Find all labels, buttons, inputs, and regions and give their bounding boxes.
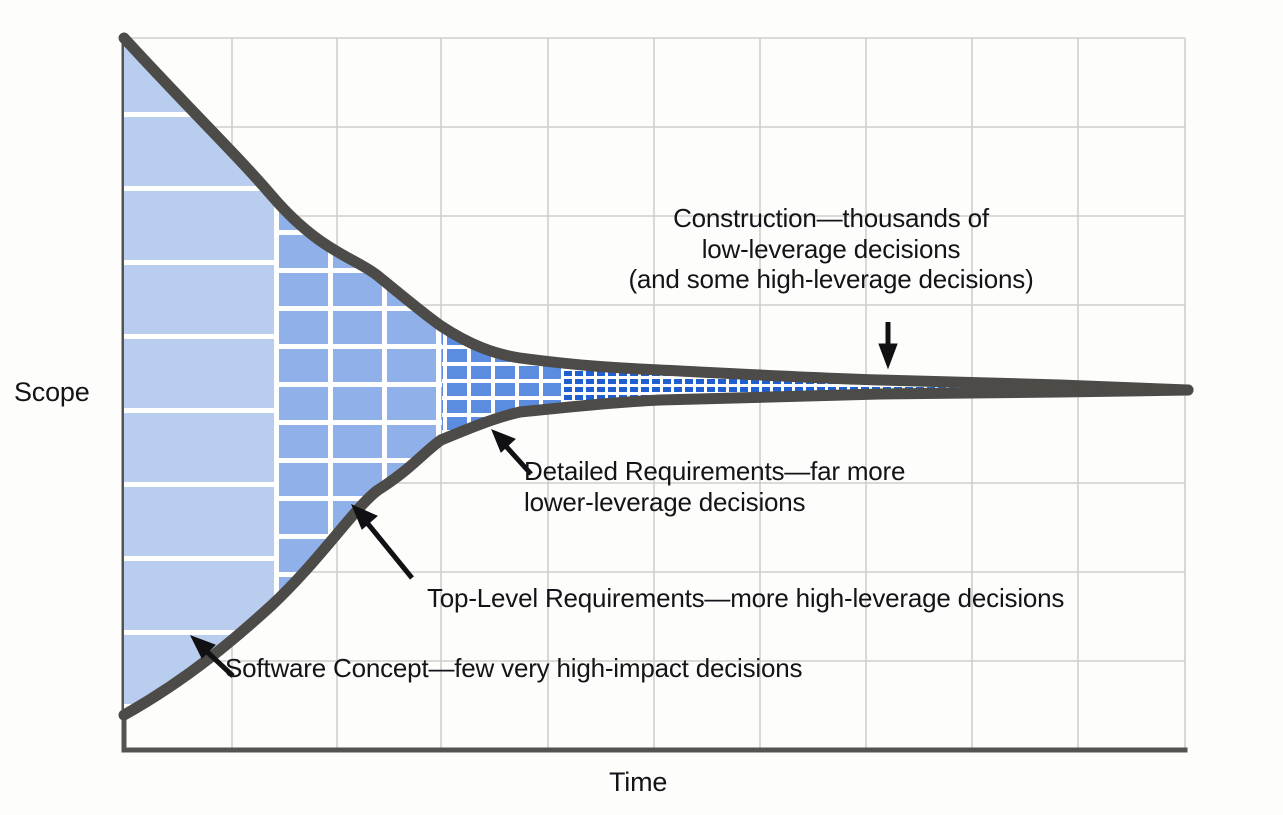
zone-top-level-requirements (274, 30, 442, 750)
callout-concept-line-1: Software Concept—few very high-impact de… (225, 653, 802, 684)
y-axis-label: Scope (14, 377, 90, 408)
callout-top-level-requirements: Top-Level Requirements—more high-leverag… (427, 583, 1064, 614)
figure-canvas: Scope Time Construction—thousands of low… (0, 0, 1283, 815)
callout-detailed-requirements: Detailed Requirements—far more lower-lev… (524, 456, 1024, 517)
callout-construction-line-2: low-leverage decisions (596, 234, 1066, 265)
callout-construction-line-3: (and some high-leverage decisions) (596, 264, 1066, 295)
callout-construction: Construction—thousands of low-leverage d… (596, 203, 1066, 295)
callout-detailed-line-1: Detailed Requirements—far more (524, 456, 1024, 487)
top-level-requirements-arrow-icon (352, 505, 412, 578)
callout-detailed-line-2: lower-leverage decisions (524, 487, 1024, 518)
callout-construction-line-1: Construction—thousands of (596, 203, 1066, 234)
construction-arrow-icon (879, 322, 897, 368)
zone-detailed-requirements (442, 300, 561, 480)
callout-software-concept: Software Concept—few very high-impact de… (225, 653, 802, 684)
x-axis-label: Time (609, 767, 667, 798)
funnel-diagram-svg (0, 0, 1283, 815)
callout-toplevel-line-1: Top-Level Requirements—more high-leverag… (427, 583, 1064, 614)
